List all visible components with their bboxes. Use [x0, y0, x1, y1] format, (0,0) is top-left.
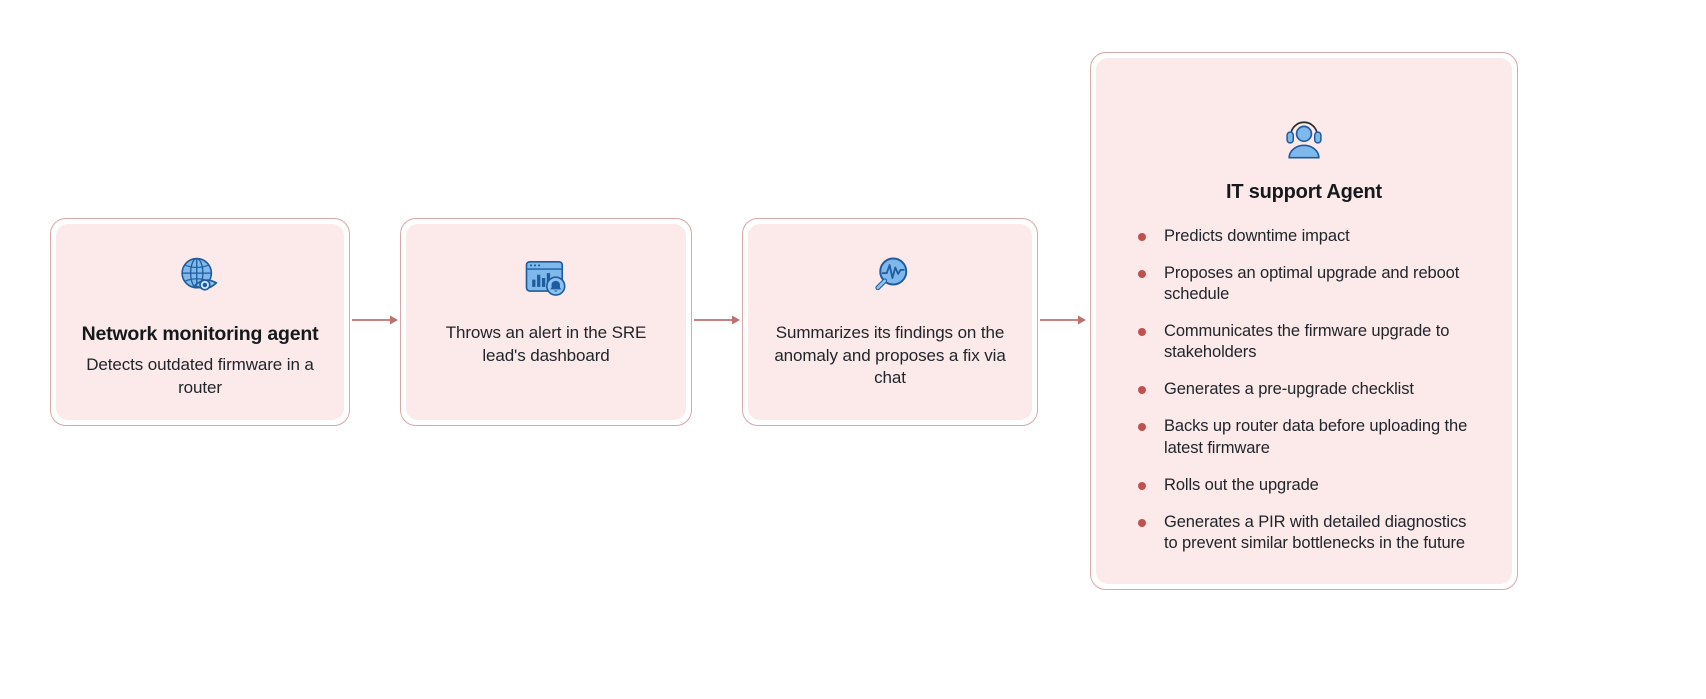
list-item-label: Generates a PIR with detailed diagnostic…: [1164, 513, 1466, 552]
step-card-body: Summarizes its findings on the anomaly a…: [748, 224, 1032, 420]
bullet-dot-icon: [1138, 270, 1146, 278]
list-item: Generates a pre-upgrade checklist: [1130, 379, 1478, 400]
list-item-label: Backs up router data before uploading th…: [1164, 417, 1467, 456]
arrow-step2-to-step3: [694, 313, 742, 327]
agent-panel-title: IT support Agent: [1130, 181, 1478, 204]
list-item: Rolls out the upgrade: [1130, 475, 1478, 496]
step-card-body: Throws an alert in the SRE lead's dashbo…: [406, 224, 686, 420]
agent-panel-it-support[interactable]: IT support Agent Predicts downtime impac…: [1090, 52, 1518, 590]
globe-eye-icon: [174, 252, 226, 304]
flow-diagram-canvas: Network monitoring agent Detects outdate…: [0, 0, 1706, 699]
list-item-label: Generates a pre-upgrade checklist: [1164, 380, 1414, 398]
step-title: Network monitoring agent: [82, 322, 319, 346]
bullet-dot-icon: [1138, 519, 1146, 527]
list-item: Communicates the firmware upgrade to sta…: [1130, 321, 1478, 363]
step-card-body: Network monitoring agent Detects outdate…: [56, 224, 344, 420]
step-description: Throws an alert in the SRE lead's dashbo…: [424, 322, 668, 367]
list-item-label: Predicts downtime impact: [1164, 227, 1350, 245]
step-description: Summarizes its findings on the anomaly a…: [766, 322, 1014, 390]
bullet-dot-icon: [1138, 482, 1146, 490]
bullet-dot-icon: [1138, 233, 1146, 241]
list-item-label: Proposes an optimal upgrade and reboot s…: [1164, 264, 1459, 303]
dashboard-alert-icon: [520, 252, 572, 304]
headset-support-agent-icon: [1277, 114, 1331, 167]
list-item: Generates a PIR with detailed diagnostic…: [1130, 512, 1478, 554]
list-item: Backs up router data before uploading th…: [1130, 416, 1478, 458]
bullet-dot-icon: [1138, 423, 1146, 431]
step-card-network-monitoring-agent[interactable]: Network monitoring agent Detects outdate…: [50, 218, 350, 426]
list-item: Proposes an optimal upgrade and reboot s…: [1130, 263, 1478, 305]
agent-panel-body: IT support Agent Predicts downtime impac…: [1096, 58, 1512, 584]
step-card-throws-alert[interactable]: Throws an alert in the SRE lead's dashbo…: [400, 218, 692, 426]
list-item-label: Rolls out the upgrade: [1164, 476, 1319, 494]
list-item-label: Communicates the firmware upgrade to sta…: [1164, 322, 1449, 361]
list-item: Predicts downtime impact: [1130, 226, 1478, 247]
step-card-summarizes-findings[interactable]: Summarizes its findings on the anomaly a…: [742, 218, 1038, 426]
step-description: Detects outdated firmware in a router: [74, 354, 326, 399]
arrow-step1-to-step2: [352, 313, 400, 327]
arrow-step3-to-agent: [1040, 313, 1088, 327]
bullet-dot-icon: [1138, 386, 1146, 394]
magnifier-anomaly-icon: [864, 252, 916, 304]
agent-capability-list: Predicts downtime impact Proposes an opt…: [1130, 226, 1478, 554]
bullet-dot-icon: [1138, 328, 1146, 336]
